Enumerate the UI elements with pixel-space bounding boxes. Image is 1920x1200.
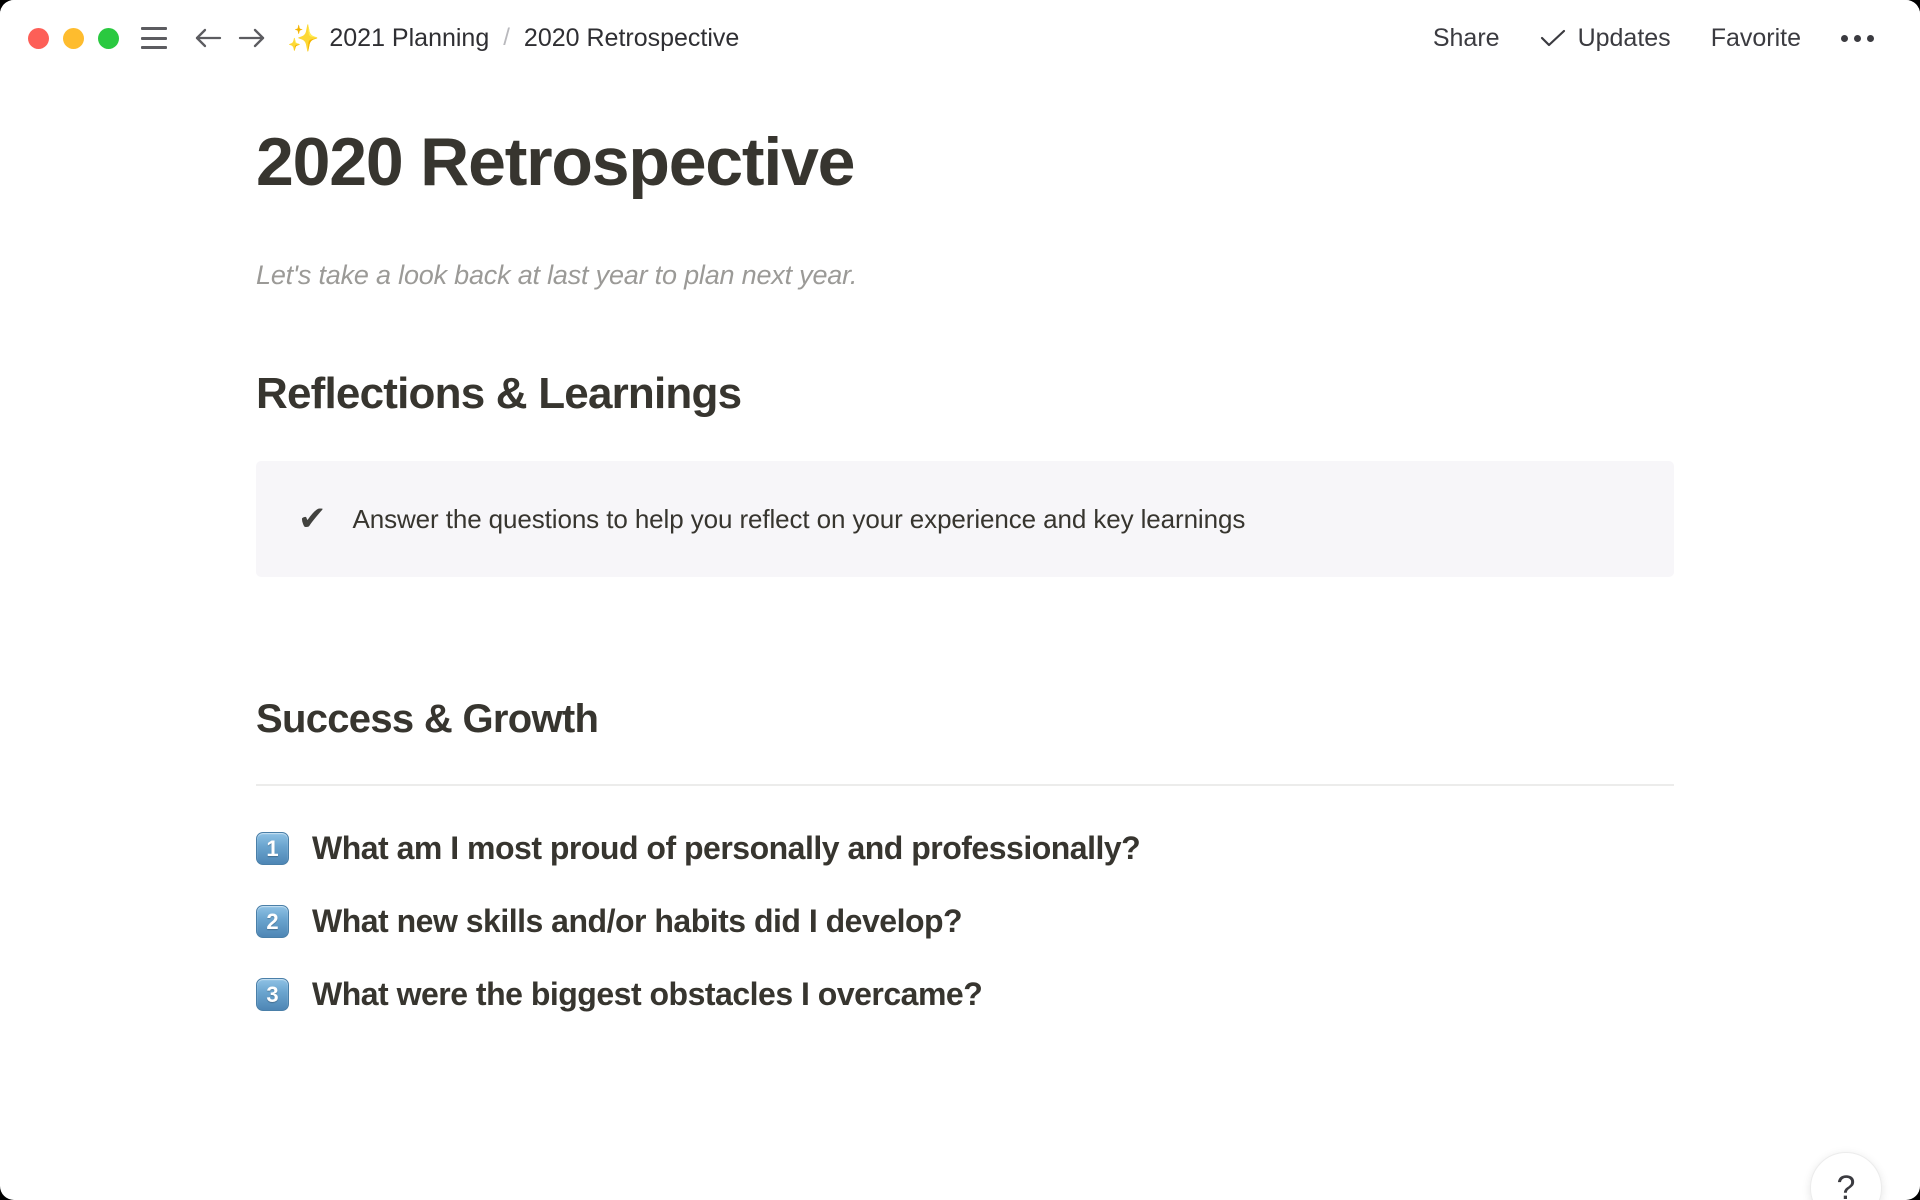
section-heading-success[interactable]: Success & Growth: [256, 697, 1676, 742]
arrow-right-icon[interactable]: [235, 21, 269, 55]
updates-label: Updates: [1578, 24, 1671, 53]
ellipsis-dot: [1854, 35, 1861, 42]
share-button[interactable]: Share: [1413, 24, 1520, 53]
hamburger-line: [141, 27, 167, 30]
hamburger-line: [141, 37, 167, 40]
breadcrumb-parent[interactable]: 2021 Planning: [329, 24, 489, 53]
ellipsis-dot: [1841, 35, 1848, 42]
check-icon: [1540, 28, 1566, 48]
traffic-lights: [28, 28, 119, 49]
close-window-button[interactable]: [28, 28, 49, 49]
maximize-window-button[interactable]: [98, 28, 119, 49]
sparkles-icon: ✨: [287, 25, 319, 51]
list-item[interactable]: 3 What were the biggest obstacles I over…: [256, 976, 1676, 1013]
question-text: What new skills and/or habits did I deve…: [312, 903, 962, 940]
ellipsis-dot: [1867, 35, 1874, 42]
section-divider: [256, 784, 1674, 786]
keycap-3-icon: 3: [256, 978, 289, 1011]
page-body: 2020 Retrospective Let's take a look bac…: [0, 128, 1920, 1200]
list-item[interactable]: 1 What am I most proud of personally and…: [256, 830, 1676, 867]
favorite-button[interactable]: Favorite: [1691, 24, 1821, 53]
ellipsis-icon[interactable]: [1821, 35, 1886, 42]
hamburger-line: [141, 46, 167, 49]
list-item[interactable]: 2 What new skills and/or habits did I de…: [256, 903, 1676, 940]
question-text: What am I most proud of personally and p…: [312, 830, 1140, 867]
share-label: Share: [1433, 24, 1500, 53]
callout-text: Answer the questions to help you reflect…: [353, 504, 1246, 535]
arrow-left-icon[interactable]: [191, 21, 225, 55]
help-button[interactable]: ?: [1810, 1152, 1882, 1200]
app-window: ✨ 2021 Planning / 2020 Retrospective Sha…: [0, 0, 1920, 1200]
page-title[interactable]: 2020 Retrospective: [256, 128, 1676, 196]
title-bar: ✨ 2021 Planning / 2020 Retrospective Sha…: [0, 0, 1920, 76]
breadcrumb-separator: /: [503, 24, 510, 52]
hamburger-icon[interactable]: [141, 27, 167, 49]
favorite-label: Favorite: [1711, 24, 1801, 53]
check-mark-icon: ✔: [298, 502, 327, 536]
document-content: 2020 Retrospective Let's take a look bac…: [256, 128, 1676, 1013]
updates-button[interactable]: Updates: [1520, 24, 1691, 53]
page-subtitle[interactable]: Let's take a look back at last year to p…: [256, 260, 1676, 291]
question-text: What were the biggest obstacles I overca…: [312, 976, 982, 1013]
minimize-window-button[interactable]: [63, 28, 84, 49]
keycap-2-icon: 2: [256, 905, 289, 938]
keycap-1-icon: 1: [256, 832, 289, 865]
breadcrumb-current[interactable]: 2020 Retrospective: [524, 24, 739, 53]
callout-block[interactable]: ✔ Answer the questions to help you refle…: [256, 461, 1674, 577]
question-list: 1 What am I most proud of personally and…: [256, 830, 1676, 1013]
titlebar-actions: Share Updates Favorite: [1413, 24, 1886, 53]
section-heading-reflections[interactable]: Reflections & Learnings: [256, 369, 1676, 419]
